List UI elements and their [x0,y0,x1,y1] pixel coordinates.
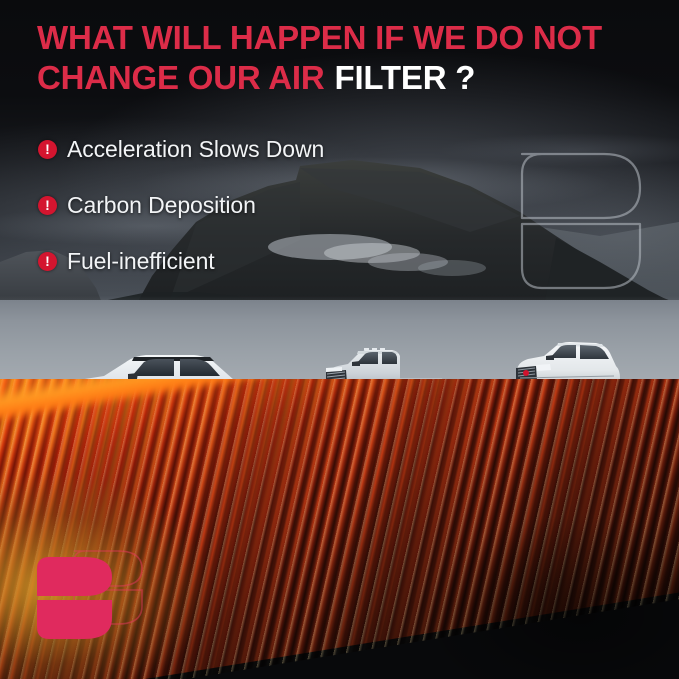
filter-vignette [259,459,679,679]
exclamation-glyph: ! [45,142,50,156]
exclamation-circle-icon: ! [38,196,57,215]
headline-line-2: CHANGE OUR AIRFILTER ? [37,58,637,98]
brand-logo-outline-watermark [518,148,643,299]
list-item: ! Fuel-inefficient [38,246,324,276]
list-item-label: Fuel-inefficient [67,248,215,275]
exclamation-circle-icon: ! [38,252,57,271]
list-item: ! Carbon Deposition [38,190,324,220]
list-item: ! Acceleration Slows Down [38,134,324,164]
list-item-label: Acceleration Slows Down [67,136,324,163]
poster-canvas: WHAT WILL HAPPEN IF WE DO NOT CHANGE OUR… [0,0,679,679]
brand-logo-solid [36,554,114,647]
headline-line-1: WHAT WILL HAPPEN IF WE DO NOT [37,18,637,58]
page-title: WHAT WILL HAPPEN IF WE DO NOT CHANGE OUR… [37,18,637,98]
headline-line-2-red: CHANGE OUR AIR [37,59,324,96]
symptom-list: ! Acceleration Slows Down ! Carbon Depos… [38,134,324,302]
exclamation-glyph: ! [45,198,50,212]
exclamation-circle-icon: ! [38,140,57,159]
headline-line-2-white: FILTER ? [334,59,475,96]
exclamation-glyph: ! [45,254,50,268]
list-item-label: Carbon Deposition [67,192,256,219]
